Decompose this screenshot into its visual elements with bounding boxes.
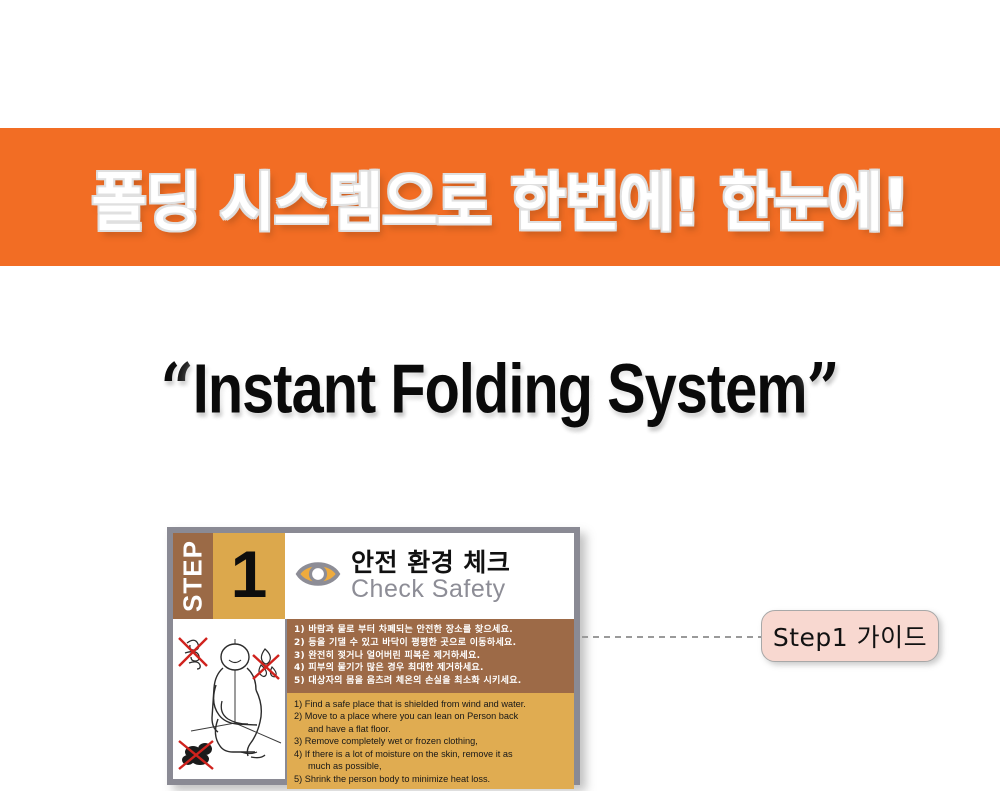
- card-text-column: 1) 바람과 물로 부터 차폐되는 안전한 장소를 찾으세요. 2) 등을 기댈…: [287, 619, 574, 779]
- instruction-en-1: 1) Find a safe place that is shielded fr…: [294, 698, 569, 711]
- headline-container: “Instant Folding System”: [0, 352, 1000, 425]
- step-tab: STEP: [173, 533, 213, 619]
- headline-label: Instant Folding System: [193, 351, 807, 428]
- card-title-en: Check Safety: [351, 576, 510, 602]
- banner-title: 폴딩 시스템으로 한번에! 한눈에!: [92, 151, 909, 243]
- instruction-en-4-cont: much as possible,: [294, 760, 569, 773]
- callout-label: Step1 가이드: [773, 618, 927, 654]
- callout-connector-line: [582, 636, 764, 638]
- card-body: 1) 바람과 물로 부터 차폐되는 안전한 장소를 찾으세요. 2) 등을 기댈…: [173, 619, 574, 779]
- step-number: 1: [213, 533, 285, 619]
- instruction-ko-4: 4) 피부의 물기가 많은 경우 최대한 제거하세요.: [294, 662, 569, 675]
- instructions-korean: 1) 바람과 물로 부터 차폐되는 안전한 장소를 찾으세요. 2) 등을 기댈…: [287, 619, 574, 693]
- eye-icon: [295, 558, 341, 595]
- safety-card-inner: STEP 1 안전 환경 체크 Check Safety: [173, 533, 574, 779]
- instruction-en-2-cont: and have a flat floor.: [294, 723, 569, 736]
- card-title-text: 안전 환경 체크 Check Safety: [351, 550, 510, 602]
- card-header-title: 안전 환경 체크 Check Safety: [285, 533, 574, 619]
- safety-card: STEP 1 안전 환경 체크 Check Safety: [167, 527, 580, 785]
- instruction-en-2: 2) Move to a place where you can lean on…: [294, 710, 569, 723]
- instruction-ko-2: 2) 등을 기댈 수 있고 바닥이 평평한 곳으로 이동하세요.: [294, 637, 569, 650]
- instruction-en-3: 3) Remove completely wet or frozen cloth…: [294, 735, 569, 748]
- headline-text: “Instant Folding System”: [161, 348, 839, 430]
- instruction-ko-3: 3) 완전히 젖거나 얼어버린 피복은 제거하세요.: [294, 650, 569, 663]
- instruction-en-5: 5) Shrink the person body to minimize he…: [294, 773, 569, 786]
- card-header: STEP 1 안전 환경 체크 Check Safety: [173, 533, 574, 619]
- illustration-svg: [173, 619, 285, 779]
- instruction-en-4: 4) If there is a lot of moisture on the …: [294, 748, 569, 761]
- close-quote: ”: [807, 348, 839, 430]
- step1-guide-callout[interactable]: Step1 가이드: [761, 610, 939, 662]
- step-label: STEP: [178, 540, 209, 612]
- seated-person-illustration: [173, 619, 287, 779]
- open-quote: “: [161, 348, 193, 430]
- banner: 폴딩 시스템으로 한번에! 한눈에!: [0, 128, 1000, 266]
- instruction-ko-1: 1) 바람과 물로 부터 차폐되는 안전한 장소를 찾으세요.: [294, 624, 569, 637]
- instructions-english: 1) Find a safe place that is shielded fr…: [287, 693, 574, 790]
- card-title-ko: 안전 환경 체크: [351, 550, 510, 576]
- instruction-ko-5: 5) 대상자의 몸을 움츠려 체온의 손실을 최소화 시키세요.: [294, 675, 569, 688]
